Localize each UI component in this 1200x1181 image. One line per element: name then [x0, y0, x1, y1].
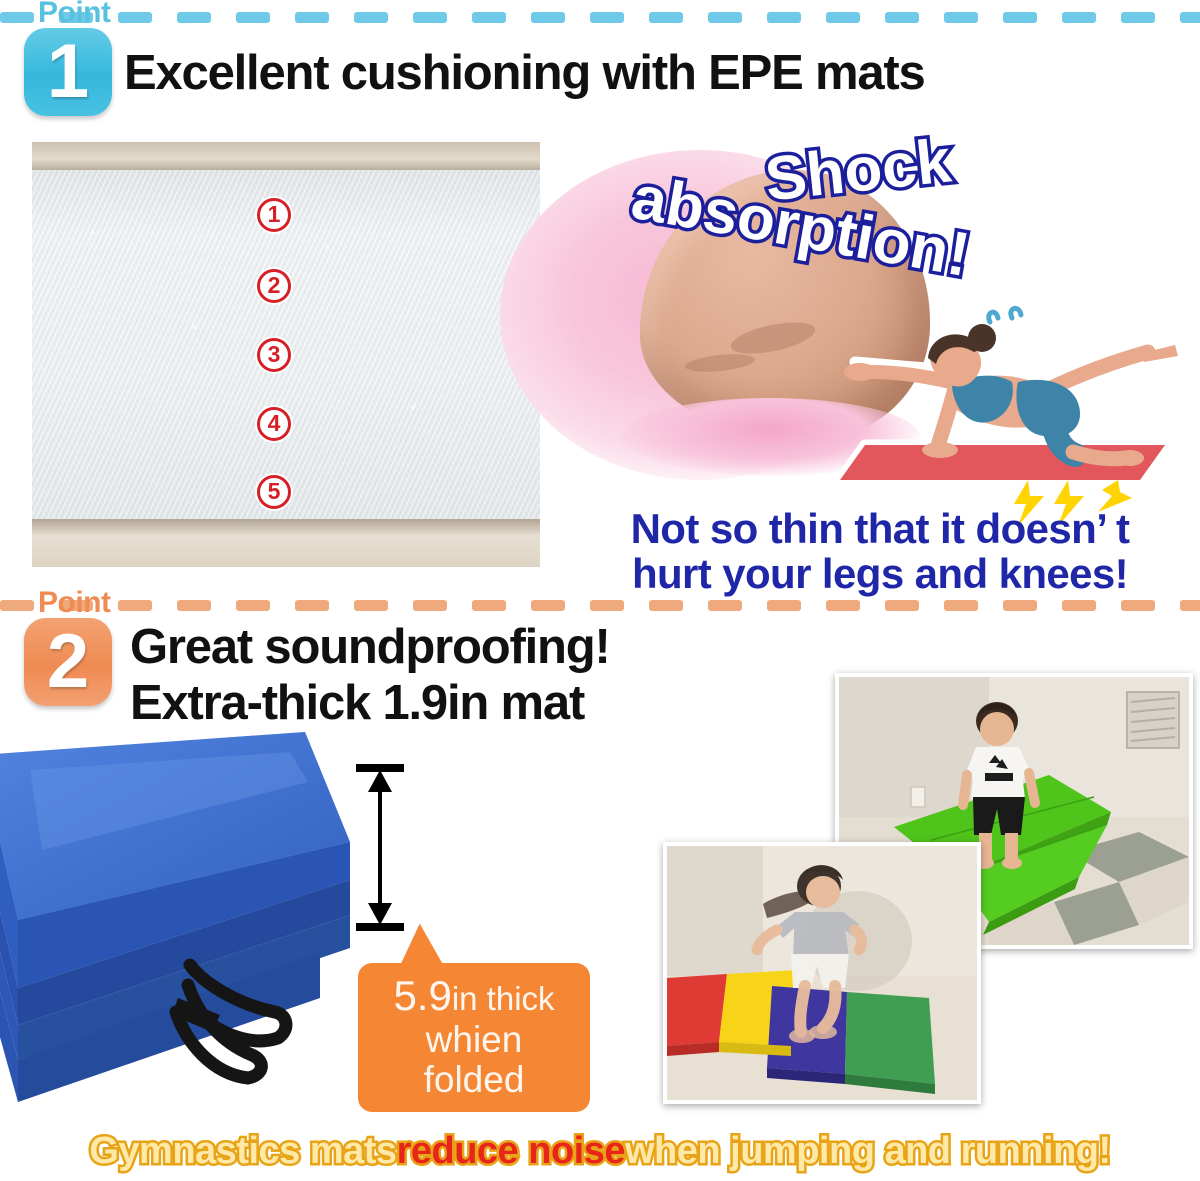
dash-segment [177, 600, 211, 611]
layer-marker-1: 1 [257, 198, 291, 232]
layer-marker-2: 2 [257, 269, 291, 303]
dash-segment [177, 12, 211, 23]
dash-segment [767, 12, 801, 23]
headline-point-2-line1: Great soundproofing! [130, 622, 610, 674]
dash-segment [708, 600, 742, 611]
headline-point-2-line2: Extra-thick 1.9in mat [130, 678, 584, 730]
dash-segment [354, 12, 388, 23]
dash-segment [118, 12, 152, 23]
dash-segment [295, 600, 329, 611]
point-badge-2: 2 [24, 618, 112, 706]
dash-segment [413, 12, 447, 23]
callout-line1: 5.9in thick [372, 973, 576, 1018]
dash-segment [531, 12, 565, 23]
divider-dashed-point2 [0, 598, 1200, 612]
banner-text-highlight: reduce noise [397, 1130, 625, 1173]
dash-segment [1062, 12, 1096, 23]
dash-segment [1003, 12, 1037, 23]
layer-marker-5: 5 [257, 475, 291, 509]
callout-line2: whien folded [372, 1020, 576, 1100]
dash-segment [118, 600, 152, 611]
photo-girl-multicolor-mat-inner [667, 846, 977, 1100]
yoga-illustration [830, 300, 1200, 500]
layer-marker-3: 3 [257, 338, 291, 372]
dash-segment [0, 600, 34, 611]
dash-segment [767, 600, 801, 611]
dash-segment [354, 600, 388, 611]
point-label-2: Point [38, 586, 111, 620]
blue-mat-svg [0, 730, 370, 1135]
dash-segment [413, 600, 447, 611]
dash-segment [1180, 600, 1200, 611]
dash-segment [944, 600, 978, 611]
dash-segment [1121, 600, 1155, 611]
dash-segment [708, 12, 742, 23]
photo-girl-multicolor-mat [663, 842, 981, 1104]
dash-segment [531, 600, 565, 611]
layer-marker-4: 4 [257, 407, 291, 441]
dash-segment [295, 12, 329, 23]
callout-value: 5.9 [393, 972, 451, 1019]
dash-segment [649, 600, 683, 611]
dash-segment [1003, 600, 1037, 611]
banner-text-part2: when jumping and running! [625, 1130, 1111, 1173]
callout-unit: in thick [452, 980, 555, 1017]
epe-foam-photo: 1 2 3 4 5 [32, 142, 540, 567]
point-badge-1: 1 [24, 28, 112, 116]
bottom-banner: Gymnastics mats reduce noise when jumpin… [0, 1121, 1200, 1181]
dash-segment [0, 12, 34, 23]
point-badge-2-number: 2 [47, 624, 89, 700]
cushion-subtext-line2: hurt your legs and knees! [575, 550, 1185, 597]
yoga-figure-svg [830, 300, 1200, 500]
girl-multicolor-mat-svg [667, 846, 977, 1100]
dash-segment [236, 12, 270, 23]
banner-text-part1: Gymnastics mats [89, 1130, 396, 1173]
point-label-1: Point [38, 0, 111, 30]
dash-segment [236, 600, 270, 611]
thickness-measure-arrow [350, 760, 410, 940]
dash-segment [885, 600, 919, 611]
dash-segment [826, 12, 860, 23]
epe-bottom-edge [32, 519, 540, 567]
thickness-callout: 5.9in thick whien folded [358, 963, 590, 1112]
dash-segment [472, 600, 506, 611]
infographic-page: Point 1 Excellent cushioning with EPE ma… [0, 0, 1200, 1181]
dash-segment [826, 600, 860, 611]
headline-point-1: Excellent cushioning with EPE mats [124, 48, 925, 100]
dash-segment [472, 12, 506, 23]
epe-top-edge [32, 142, 540, 170]
cushion-subtext-line1: Not so thin that it doesn’ t [575, 505, 1185, 552]
dash-segment [944, 12, 978, 23]
dash-segment [590, 600, 624, 611]
dash-segment [649, 12, 683, 23]
dash-segment [885, 12, 919, 23]
dash-segment [590, 12, 624, 23]
dash-segment [1121, 12, 1155, 23]
dash-segment [1180, 12, 1200, 23]
blue-folded-mat-photo [0, 730, 360, 1130]
divider-dashed-point1 [0, 10, 1200, 24]
dash-segment [1062, 600, 1096, 611]
